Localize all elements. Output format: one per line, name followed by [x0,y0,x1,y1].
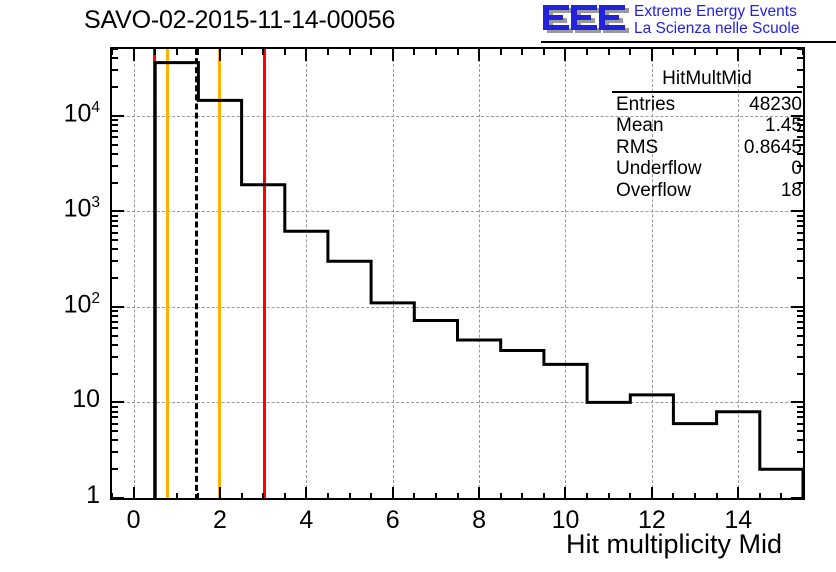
y-tick-minor-right [797,439,805,441]
y-tick-minor-right [797,451,805,453]
y-tick-minor [110,215,118,217]
x-tick-label: 2 [190,506,250,535]
y-tick-minor [110,136,118,138]
stats-row: Mean1.45 [612,115,802,137]
y-tick-minor [110,225,118,227]
x-tick-minor-top [241,48,243,55]
y-tick-minor [110,430,118,432]
y-tick-minor [110,260,118,262]
x-tick-minor-top [327,48,329,55]
x-tick-major [651,487,653,500]
y-tick-minor [110,153,118,155]
y-tick-label: 103 [0,194,100,223]
x-tick-minor [154,493,156,500]
x-tick-minor-top [197,48,199,55]
x-tick-minor [716,493,718,500]
y-tick-minor [110,315,118,317]
y-tick-minor-right [797,239,805,241]
x-tick-minor-top [176,48,178,55]
y-tick-major [110,306,124,308]
stats-row-value: 48230 [749,94,802,116]
x-tick-minor-top [370,48,372,55]
x-axis-title: Hit multiplicity Mid [566,529,782,560]
x-tick-minor-top [543,48,545,55]
x-tick-label: 0 [104,506,164,535]
x-tick-minor [370,493,372,500]
x-tick-minor-top [586,48,588,55]
stats-row-key: Overflow [616,180,691,202]
y-tick-minor [110,468,118,470]
y-tick-minor [110,373,118,375]
stats-row-value: 18 [781,180,802,202]
stats-divider [612,91,802,93]
x-tick-major-top [305,48,307,61]
x-tick-minor-top [154,48,156,55]
x-tick-minor-top [694,48,696,55]
stats-row: RMS0.8645 [612,137,802,159]
y-tick-minor-right [797,406,805,408]
y-tick-minor-right [797,321,805,323]
y-tick-minor-right [797,411,805,413]
x-tick-minor [176,493,178,500]
y-tick-major [110,210,124,212]
x-tick-minor [500,493,502,500]
y-tick-major [110,497,124,499]
stats-row: Entries48230 [612,94,802,116]
y-tick-minor [110,439,118,441]
x-tick-minor-top [262,48,264,55]
x-tick-major-top [651,48,653,61]
y-tick-minor-right [797,335,805,337]
stats-row: Underflow0 [612,158,802,180]
stats-row-key: Underflow [616,158,702,180]
x-tick-label: 8 [449,506,509,535]
y-tick-minor [110,327,118,329]
y-tick-minor-right [797,430,805,432]
x-tick-minor [586,493,588,500]
x-tick-minor-top [629,48,631,55]
x-tick-minor [413,493,415,500]
y-tick-minor-right [797,57,805,59]
y-tick-minor [110,220,118,222]
x-tick-major-top [392,48,394,61]
stats-row-key: Mean [616,115,664,137]
y-tick-minor-right [797,277,805,279]
y-tick-minor [110,119,118,121]
y-tick-minor-right [797,225,805,227]
x-tick-major [219,487,221,500]
stats-row-value: 1.45 [765,115,802,137]
y-tick-minor [110,239,118,241]
y-tick-major-right [791,401,805,403]
stats-row-value: 0 [791,158,802,180]
stats-box: HitMultMid Entries48230Mean1.45RMS0.8645… [612,68,802,201]
y-tick-major [110,401,124,403]
x-tick-minor [197,493,199,500]
y-tick-minor [110,232,118,234]
x-tick-minor [284,493,286,500]
x-tick-major-top [219,48,221,61]
x-tick-minor-top [780,48,782,55]
y-tick-minor-right [797,248,805,250]
x-tick-label: 4 [276,506,336,535]
x-tick-minor [672,493,674,500]
x-tick-minor [457,493,459,500]
y-tick-minor-right [797,48,805,50]
x-tick-minor-top [457,48,459,55]
y-tick-minor [110,86,118,88]
x-tick-minor [241,493,243,500]
y-tick-label: 1 [0,481,100,510]
y-tick-minor [110,69,118,71]
y-tick-minor [110,423,118,425]
x-tick-major [478,487,480,500]
y-tick-major-right [791,210,805,212]
x-tick-minor-top [284,48,286,55]
y-tick-minor-right [797,373,805,375]
x-tick-minor-top [608,48,610,55]
x-tick-minor [694,493,696,500]
y-tick-label: 10 [0,385,100,414]
y-tick-minor-right [797,215,805,217]
y-tick-minor [110,356,118,358]
stats-rows: Entries48230Mean1.45RMS0.8645Underflow0O… [612,94,802,202]
y-tick-major [110,115,124,117]
y-tick-minor [110,182,118,184]
x-tick-minor-top [349,48,351,55]
x-tick-minor [435,493,437,500]
x-tick-minor-top [413,48,415,55]
y-tick-minor-right [797,232,805,234]
x-tick-minor-top [672,48,674,55]
x-tick-minor [349,493,351,500]
x-tick-minor [521,493,523,500]
y-tick-minor [110,130,118,132]
x-tick-major [392,487,394,500]
x-tick-major [564,487,566,500]
y-tick-major-right [791,306,805,308]
x-tick-minor [608,493,610,500]
x-tick-major-top [737,48,739,61]
x-tick-minor [327,493,329,500]
y-tick-minor [110,321,118,323]
y-tick-minor [110,411,118,413]
stats-row-key: RMS [616,137,658,159]
x-tick-minor-top [521,48,523,55]
y-tick-minor [110,406,118,408]
x-tick-minor [759,493,761,500]
y-tick-minor-right [797,416,805,418]
x-tick-major-top [133,48,135,61]
stats-row: Overflow18 [612,180,802,202]
x-tick-minor [629,493,631,500]
y-tick-minor [110,165,118,167]
x-tick-major [305,487,307,500]
x-tick-minor-top [435,48,437,55]
y-tick-minor-right [797,260,805,262]
x-tick-label: 6 [363,506,423,535]
x-tick-major [133,487,135,500]
root-canvas: SAVO-02-2015-11-14-00056 Extreme Energy … [0,0,836,572]
y-tick-minor-right [797,356,805,358]
y-tick-minor [110,48,118,50]
x-tick-minor-top [500,48,502,55]
y-tick-minor [110,248,118,250]
x-tick-minor [543,493,545,500]
y-tick-minor-right [797,327,805,329]
x-tick-major-top [478,48,480,61]
y-tick-minor [110,310,118,312]
y-tick-minor-right [797,423,805,425]
y-tick-minor [110,57,118,59]
stats-title: HitMultMid [612,68,802,91]
stats-row-key: Entries [616,94,675,116]
y-tick-major-right [791,497,805,499]
y-tick-minor-right [797,344,805,346]
y-tick-minor [110,416,118,418]
y-tick-minor-right [797,220,805,222]
y-tick-minor-right [797,310,805,312]
y-tick-minor [110,124,118,126]
x-tick-major-top [564,48,566,61]
x-tick-minor [780,493,782,500]
stats-row-value: 0.8645 [744,137,802,159]
y-tick-minor [110,277,118,279]
x-tick-minor-top [759,48,761,55]
y-tick-minor [110,335,118,337]
x-tick-minor-top [716,48,718,55]
x-tick-major [737,487,739,500]
y-tick-minor-right [797,468,805,470]
y-tick-minor [110,344,118,346]
y-tick-label: 104 [0,99,100,128]
y-tick-minor-right [797,315,805,317]
y-tick-minor [110,451,118,453]
y-tick-label: 102 [0,290,100,319]
y-tick-minor [110,144,118,146]
x-tick-minor [262,493,264,500]
